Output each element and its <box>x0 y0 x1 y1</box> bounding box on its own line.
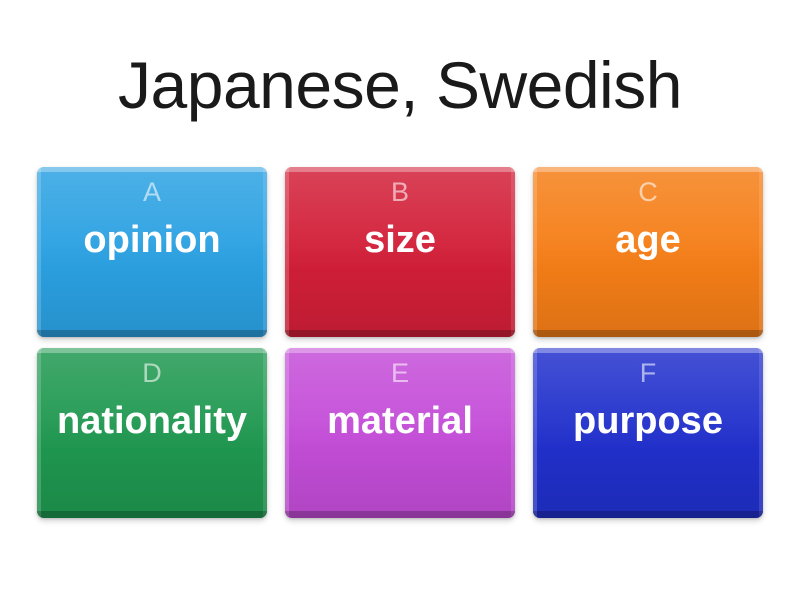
answer-grid: A opinion B size C age D nationality <box>37 167 763 518</box>
tile-left-bevel <box>533 348 537 518</box>
tile-left-bevel <box>37 167 41 337</box>
tile-left-bevel <box>533 167 537 337</box>
page-title: Japanese, Swedish <box>0 48 800 124</box>
answer-tile-a[interactable]: A opinion <box>37 167 267 337</box>
answer-tile-c[interactable]: C age <box>533 167 763 337</box>
answer-label-b: size <box>358 221 442 261</box>
tile-left-bevel <box>285 167 289 337</box>
answer-label-c: age <box>609 221 686 261</box>
tile-right-bevel <box>511 167 515 337</box>
answer-tile-f[interactable]: F purpose <box>533 348 763 518</box>
answer-tile-b[interactable]: B size <box>285 167 515 337</box>
tile-right-bevel <box>759 348 763 518</box>
answer-letter-f: F <box>640 360 657 387</box>
answer-letter-e: E <box>391 360 409 387</box>
answer-label-d: nationality <box>51 402 253 442</box>
tile-right-bevel <box>263 348 267 518</box>
answer-label-f: purpose <box>567 402 729 442</box>
tile-right-bevel <box>511 348 515 518</box>
answer-label-a: opinion <box>77 221 226 261</box>
answer-letter-b: B <box>391 179 409 206</box>
quiz-question-screen: Japanese, Swedish A opinion B size C age <box>0 0 800 600</box>
answer-letter-a: A <box>143 179 161 206</box>
tile-left-bevel <box>37 348 41 518</box>
tile-right-bevel <box>263 167 267 337</box>
answer-tile-d[interactable]: D nationality <box>37 348 267 518</box>
tile-left-bevel <box>285 348 289 518</box>
answer-label-e: material <box>321 402 479 442</box>
answer-letter-d: D <box>142 360 162 387</box>
answer-letter-c: C <box>638 179 658 206</box>
tile-right-bevel <box>759 167 763 337</box>
answer-tile-e[interactable]: E material <box>285 348 515 518</box>
